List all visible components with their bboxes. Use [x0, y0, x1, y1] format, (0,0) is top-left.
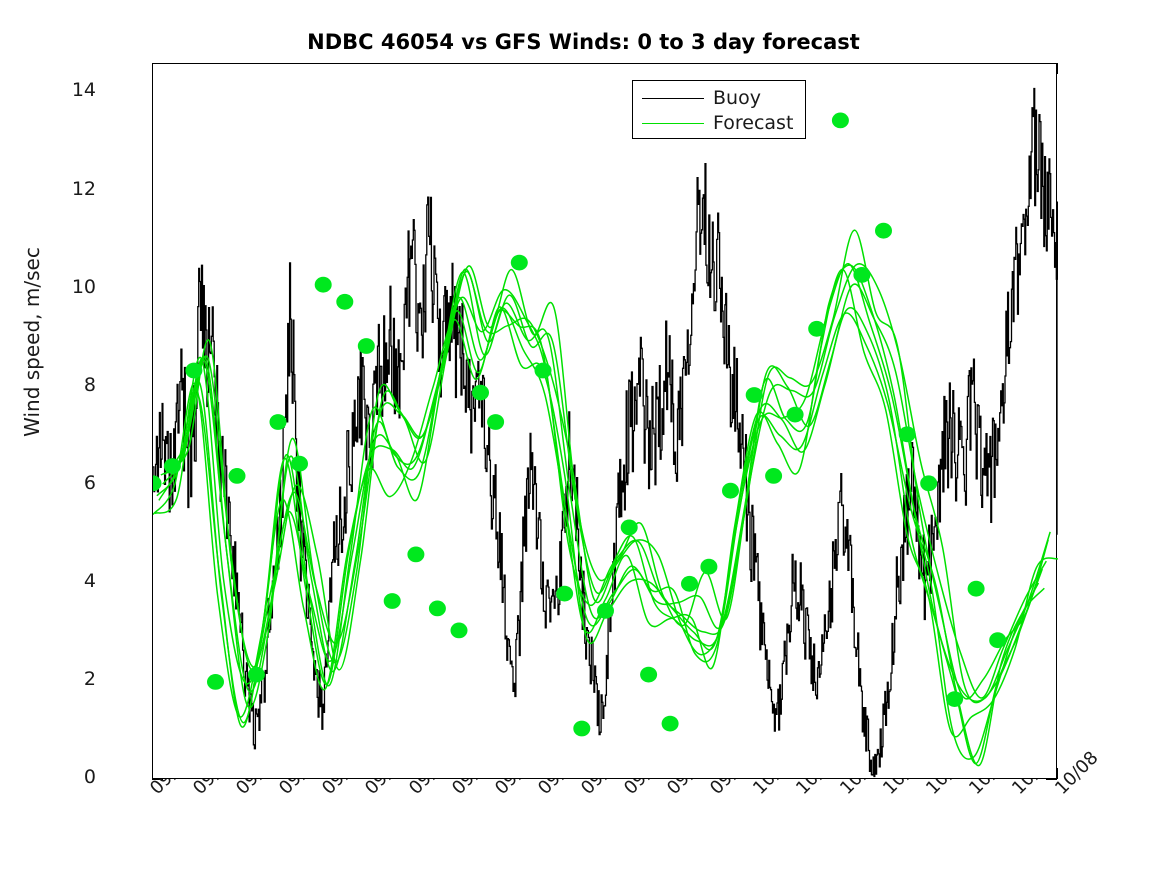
forecast-marker-point	[487, 414, 504, 430]
y-tick-label: 14	[36, 79, 96, 101]
legend-entry-buoy: Buoy	[633, 86, 805, 111]
forecast-marker-point	[920, 475, 937, 491]
chart-legend: Buoy Forecast	[632, 80, 806, 139]
legend-label-buoy: Buoy	[713, 89, 761, 108]
forecast-marker-point	[681, 576, 698, 592]
forecast-marker-point	[336, 294, 353, 310]
legend-swatch-buoy-icon	[642, 98, 704, 99]
forecast-marker-point	[556, 586, 573, 602]
forecast-marker-point	[185, 363, 202, 379]
y-axis-label: Wind speed, m/sec	[20, 62, 44, 622]
y-tick-label: 4	[36, 570, 96, 592]
forecast-marker-point	[270, 414, 287, 430]
forecast-series	[153, 230, 1058, 765]
forecast-marker-point	[989, 632, 1006, 648]
legend-label-forecast: Forecast	[713, 114, 793, 133]
forecast-marker-point	[621, 520, 638, 536]
forecast-marker-point	[746, 387, 763, 403]
forecast-marker-point	[472, 385, 489, 401]
forecast-marker-point	[700, 559, 717, 575]
forecast-marker-point	[407, 547, 424, 563]
forecast-marker-point	[164, 458, 181, 474]
forecast-marker-point	[207, 674, 224, 690]
y-tick-label: 12	[36, 178, 96, 200]
forecast-marker-point	[573, 721, 590, 737]
forecast-marker-point	[899, 426, 916, 442]
forecast-marker-point	[875, 223, 892, 239]
forecast-marker-point	[153, 475, 162, 491]
forecast-marker-point	[597, 603, 614, 619]
forecast-marker-point	[853, 267, 870, 283]
forecast-marker-point	[291, 456, 308, 472]
chart-canvas	[153, 64, 1058, 780]
forecast-marker-point	[722, 483, 739, 499]
buoy-series	[153, 89, 1058, 777]
plot-area	[152, 63, 1057, 779]
y-tick-label: 0	[36, 766, 96, 788]
forecast-marker-point	[808, 321, 825, 337]
forecast-marker-point	[358, 338, 375, 354]
forecast-marker-point	[248, 667, 265, 683]
forecast-marker-points	[153, 113, 1006, 737]
legend-entry-forecast: Forecast	[633, 111, 805, 136]
forecast-marker-point	[451, 623, 468, 639]
forecast-marker-point	[229, 468, 246, 484]
y-tick-label: 8	[36, 374, 96, 396]
forecast-marker-point	[765, 468, 782, 484]
forecast-marker-point	[315, 277, 332, 293]
chart-root: NDBC 46054 vs GFS Winds: 0 to 3 day fore…	[0, 0, 1167, 875]
chart-title: NDBC 46054 vs GFS Winds: 0 to 3 day fore…	[0, 30, 1167, 54]
forecast-marker-point	[535, 363, 552, 379]
forecast-marker-point	[832, 113, 849, 129]
forecast-marker-point	[968, 581, 985, 597]
legend-swatch-forecast-icon	[642, 123, 704, 124]
forecast-marker-point	[384, 593, 401, 609]
forecast-marker-point	[787, 407, 804, 423]
y-tick-label: 10	[36, 276, 96, 298]
y-tick-label: 6	[36, 472, 96, 494]
forecast-marker-point	[511, 255, 528, 271]
forecast-marker-point	[429, 601, 446, 617]
forecast-marker-point	[640, 667, 657, 683]
x-tick-label: 10/08	[1051, 747, 1103, 799]
forecast-marker-point	[946, 691, 963, 707]
forecast-marker-point	[662, 716, 679, 732]
y-tick-label: 2	[36, 668, 96, 690]
buoy-line	[153, 89, 1058, 777]
